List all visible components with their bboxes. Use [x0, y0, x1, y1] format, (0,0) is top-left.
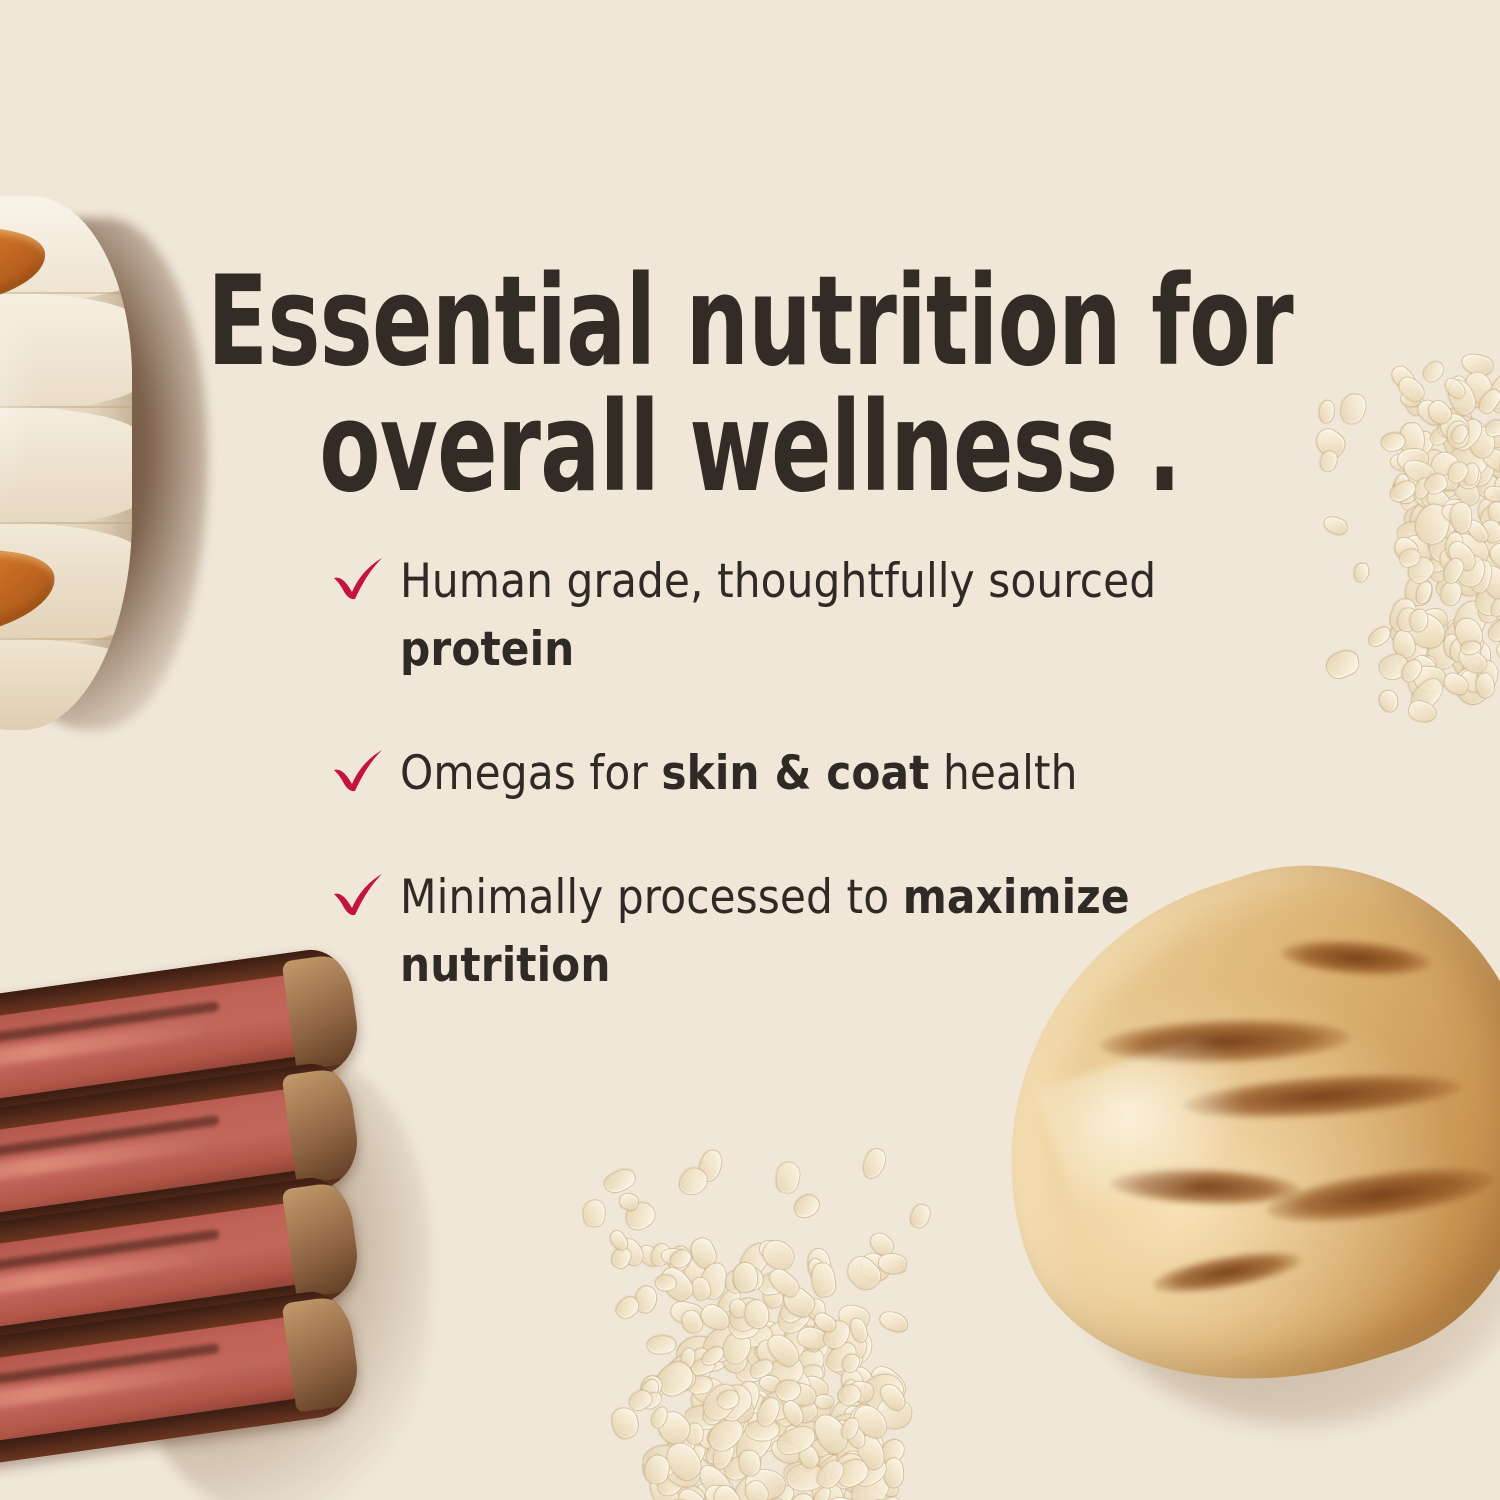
oat-flake: [858, 1144, 890, 1182]
oat-flake: [1493, 639, 1500, 664]
list-item-label: Minimally processed to maximize nutritio…: [400, 870, 1130, 993]
check-icon: [330, 746, 388, 796]
oat-flake: [600, 1165, 639, 1197]
product-feature-banner: Essential nutrition for overall wellness…: [0, 0, 1500, 1500]
oat-flake: [908, 1201, 933, 1230]
benefits-list: Human grade, thoughtfully sourced protei…: [330, 548, 1230, 1000]
list-item: Human grade, thoughtfully sourced protei…: [330, 548, 1230, 684]
oat-flake: [1322, 646, 1363, 683]
oat-flake: [876, 1307, 911, 1336]
sliced-beef-steak-photo: [0, 1020, 480, 1500]
oat-flake: [814, 1393, 835, 1408]
oat-flake: [1321, 513, 1351, 538]
check-icon: [330, 870, 388, 920]
headline-line-1: Essential nutrition for: [150, 259, 1350, 385]
oat-flake: [1419, 357, 1448, 386]
list-item-label: Omegas for skin & coat health: [400, 746, 1078, 801]
oat-flake: [733, 1262, 759, 1294]
oat-flake: [1353, 561, 1370, 583]
oat-flake: [645, 1334, 677, 1355]
page-title: Essential nutrition for overall wellness…: [150, 259, 1350, 511]
list-item: Omegas for skin & coat health: [330, 740, 1230, 808]
check-icon: [330, 554, 388, 604]
turkey-slices: [0, 196, 132, 730]
headline-line-2: overall wellness .: [150, 385, 1350, 511]
list-item-label: Human grade, thoughtfully sourced protei…: [400, 554, 1156, 677]
oat-flake: [581, 1197, 608, 1229]
scattered-rolled-oats-photo: [555, 1115, 955, 1500]
oat-flake: [1378, 689, 1401, 716]
oat-flake: [789, 1190, 823, 1222]
oat-flake: [773, 1159, 803, 1195]
oat-flake: [810, 1261, 838, 1299]
list-item: Minimally processed to maximize nutritio…: [330, 864, 1230, 1000]
